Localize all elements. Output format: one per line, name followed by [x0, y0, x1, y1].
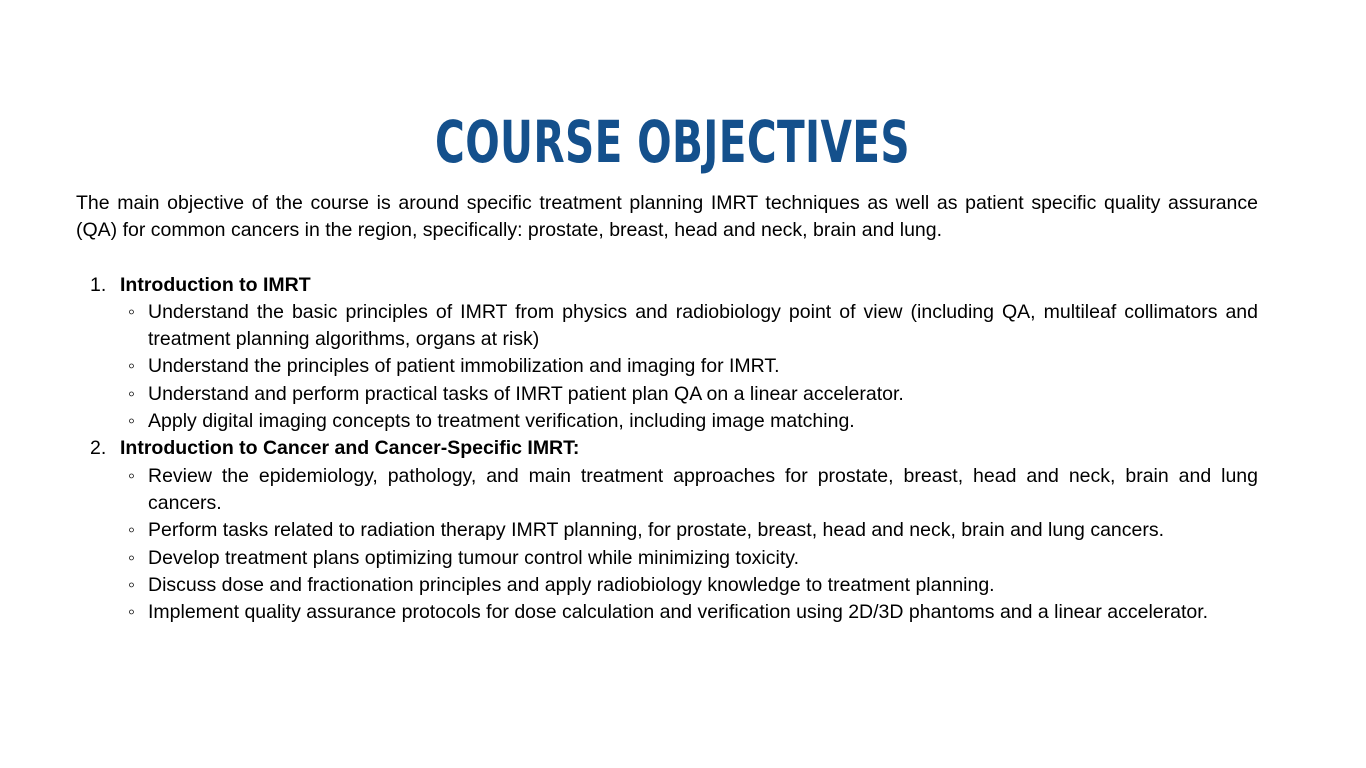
- hollow-circle-bullet-icon: ◦: [128, 381, 140, 408]
- section-bullet-list: ◦Review the epidemiology, pathology, and…: [76, 463, 1258, 627]
- list-item-text: Apply digital imaging concepts to treatm…: [148, 408, 1258, 435]
- section-heading-text: Introduction to IMRT: [120, 274, 311, 296]
- list-item: ◦Review the epidemiology, pathology, and…: [125, 463, 1258, 518]
- section-number: 1.: [90, 272, 106, 299]
- outline-section: 2.Introduction to Cancer and Cancer-Spec…: [76, 435, 1258, 626]
- hollow-circle-bullet-icon: ◦: [128, 572, 140, 599]
- hollow-circle-bullet-icon: ◦: [128, 299, 140, 326]
- list-item-text: Understand the basic principles of IMRT …: [148, 299, 1258, 354]
- page-title: COURSE OBJECTIVES: [202, 111, 1144, 173]
- hollow-circle-bullet-icon: ◦: [128, 599, 140, 626]
- list-item-text: Discuss dose and fractionation principle…: [148, 572, 1258, 599]
- section-heading-text: Introduction to Cancer and Cancer-Specif…: [120, 437, 579, 459]
- objectives-outline: 1.Introduction to IMRT◦Understand the ba…: [76, 272, 1258, 627]
- hollow-circle-bullet-icon: ◦: [128, 517, 140, 544]
- hollow-circle-bullet-icon: ◦: [128, 353, 140, 380]
- paragraph-spacer: [76, 245, 1258, 272]
- list-item-text: Understand and perform practical tasks o…: [148, 381, 1258, 408]
- list-item-text: Review the epidemiology, pathology, and …: [148, 463, 1258, 518]
- list-item-text: Develop treatment plans optimizing tumou…: [148, 545, 1258, 572]
- list-item: ◦Understand and perform practical tasks …: [125, 381, 1258, 408]
- list-item: ◦Perform tasks related to radiation ther…: [125, 517, 1258, 544]
- section-heading: 1.Introduction to IMRT: [90, 272, 1258, 299]
- section-number: 2.: [90, 435, 106, 462]
- hollow-circle-bullet-icon: ◦: [128, 408, 140, 435]
- hollow-circle-bullet-icon: ◦: [128, 463, 140, 490]
- list-item: ◦Apply digital imaging concepts to treat…: [125, 408, 1258, 435]
- section-heading: 2.Introduction to Cancer and Cancer-Spec…: [90, 435, 1258, 462]
- hollow-circle-bullet-icon: ◦: [128, 545, 140, 572]
- list-item: ◦Understand the principles of patient im…: [125, 353, 1258, 380]
- outline-section: 1.Introduction to IMRT◦Understand the ba…: [76, 272, 1258, 436]
- slide-canvas: COURSE OBJECTIVES The main objective of …: [0, 0, 1366, 768]
- list-item-text: Understand the principles of patient imm…: [148, 353, 1258, 380]
- section-bullet-list: ◦Understand the basic principles of IMRT…: [76, 299, 1258, 435]
- intro-paragraph: The main objective of the course is arou…: [76, 190, 1258, 245]
- slide-body: The main objective of the course is arou…: [76, 190, 1258, 626]
- list-item: ◦Understand the basic principles of IMRT…: [125, 299, 1258, 354]
- list-item-text: Implement quality assurance protocols fo…: [148, 599, 1258, 626]
- list-item: ◦Develop treatment plans optimizing tumo…: [125, 545, 1258, 572]
- list-item: ◦Discuss dose and fractionation principl…: [125, 572, 1258, 599]
- list-item-text: Perform tasks related to radiation thera…: [148, 517, 1258, 544]
- list-item: ◦Implement quality assurance protocols f…: [125, 599, 1258, 626]
